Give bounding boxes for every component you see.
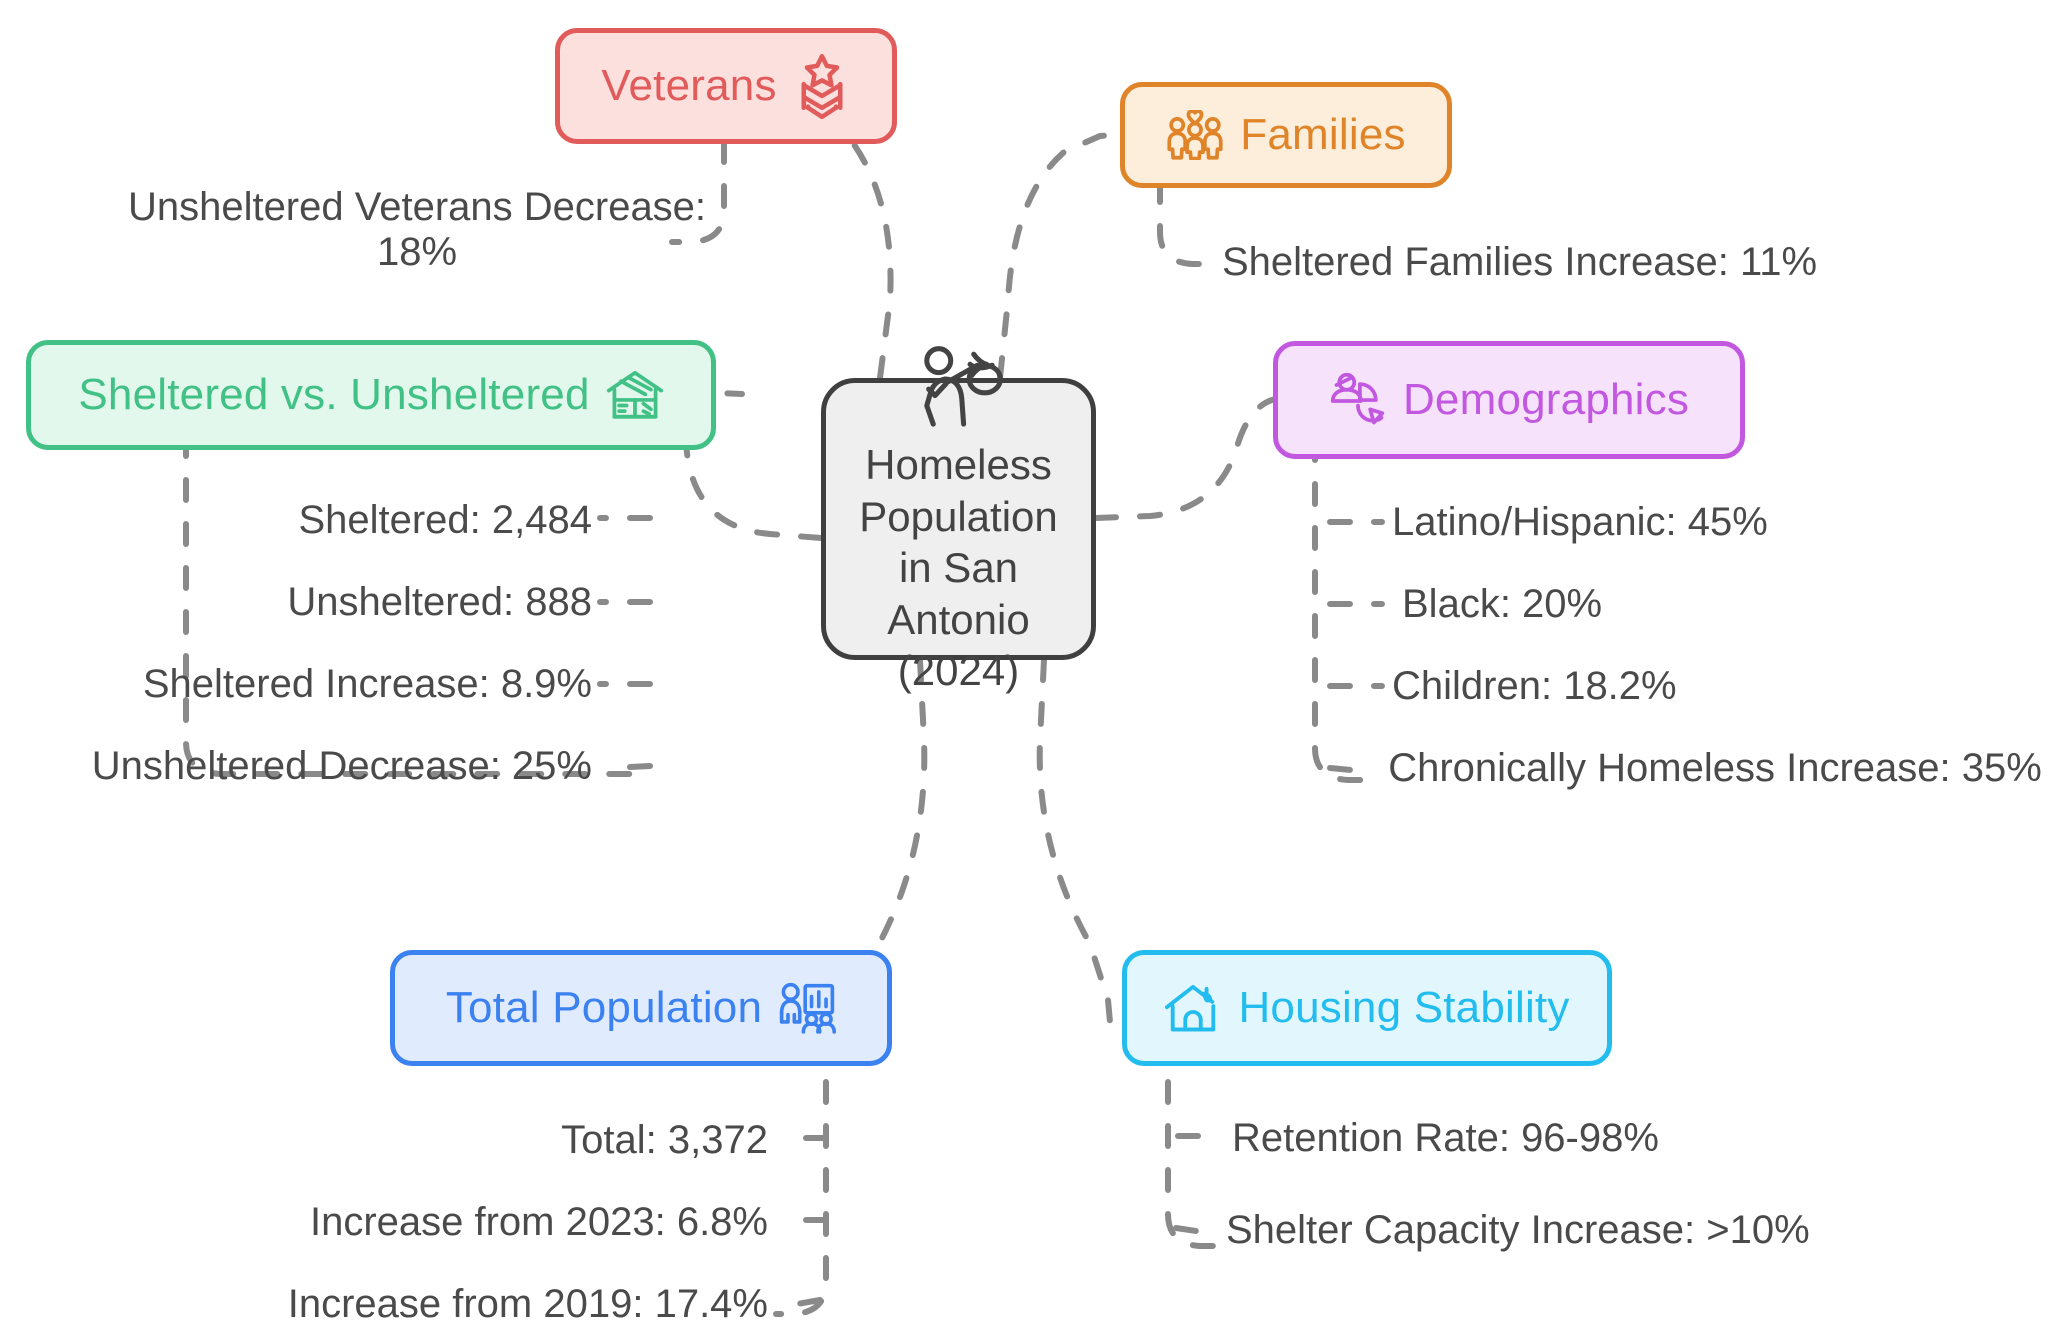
branch-label-demographics: Demographics: [1403, 378, 1689, 422]
branch-label-total-population: Total Population: [446, 986, 762, 1030]
leaf-housing-0: Retention Rate: 96-98%: [1232, 1116, 1932, 1161]
military-rank-chevron-star-icon: [793, 57, 851, 115]
edge-housing-spine: [1168, 1082, 1218, 1246]
person-presentation-bar-chart-icon: [778, 979, 836, 1037]
edge-total-item-2: [786, 1300, 820, 1306]
person-pie-chart-icon: [1329, 371, 1387, 429]
leaf-sheltered-1: Unsheltered: 888: [40, 580, 592, 625]
shelter-house-icon: [606, 366, 664, 424]
edge-sheltered-item-3: [612, 766, 650, 768]
edge-housing-item-1: [1176, 1228, 1216, 1234]
branch-node-sheltered-vs-unsheltered[interactable]: Sheltered vs. Unsheltered: [26, 340, 716, 450]
edge-center-families: [1000, 134, 1125, 378]
branch-label-veterans: Veterans: [601, 64, 776, 108]
branch-node-veterans[interactable]: Veterans: [555, 28, 897, 144]
leaf-total-0: Total: 3,372: [200, 1118, 768, 1163]
family-group-heart-icon: [1166, 106, 1224, 164]
branch-node-demographics[interactable]: Demographics: [1273, 341, 1745, 459]
mindmap-canvas: Homeless Population in San Antonio (2024…: [0, 0, 2048, 1335]
branch-node-families[interactable]: Families: [1120, 82, 1452, 188]
leaf-demographics-0: Latino/Hispanic: 45%: [1392, 500, 2032, 545]
branch-label-sheltered-vs-unsheltered: Sheltered vs. Unsheltered: [78, 373, 589, 417]
branch-node-total-population[interactable]: Total Population: [390, 950, 892, 1066]
central-node[interactable]: Homeless Population in San Antonio (2024…: [821, 378, 1096, 660]
leaf-demographics-2: Children: 18.2%: [1392, 664, 2032, 709]
branch-label-housing-stability: Housing Stability: [1238, 986, 1569, 1030]
leaf-total-1: Increase from 2023: 6.8%: [200, 1200, 768, 1245]
leaf-families-0: Sheltered Families Increase: 11%: [1222, 240, 1942, 285]
edge-total-spine: [776, 1082, 826, 1314]
leaf-sheltered-0: Sheltered: 2,484: [40, 498, 592, 543]
branch-node-housing-stability[interactable]: Housing Stability: [1122, 950, 1612, 1066]
leaf-total-2: Increase from 2019: 17.4%: [180, 1282, 768, 1327]
branch-label-families: Families: [1240, 113, 1405, 157]
leaf-sheltered-2: Sheltered Increase: 8.9%: [40, 662, 592, 707]
leaf-demographics-1: Black: 20%: [1402, 582, 2032, 627]
central-node-label: Homeless Population in San Antonio (2024…: [826, 439, 1091, 697]
leaf-housing-1: Shelter Capacity Increase: >10%: [1226, 1208, 1946, 1253]
homeless-person-with-bindle-icon: [913, 345, 1005, 431]
leaf-demographics-3: Chronically Homeless Increase: 35%: [1382, 746, 2048, 791]
edge-demographics-spine: [1315, 440, 1368, 780]
edge-demographics-item-3: [1330, 768, 1372, 772]
edge-families-item-0: [1160, 182, 1212, 264]
edge-center-housing: [1040, 660, 1110, 1022]
leaf-sheltered-3: Unsheltered Decrease: 25%: [10, 744, 592, 789]
leaf-veterans-0: Unsheltered Veterans Decrease: 18%: [92, 185, 742, 275]
home-house-icon: [1164, 979, 1222, 1037]
